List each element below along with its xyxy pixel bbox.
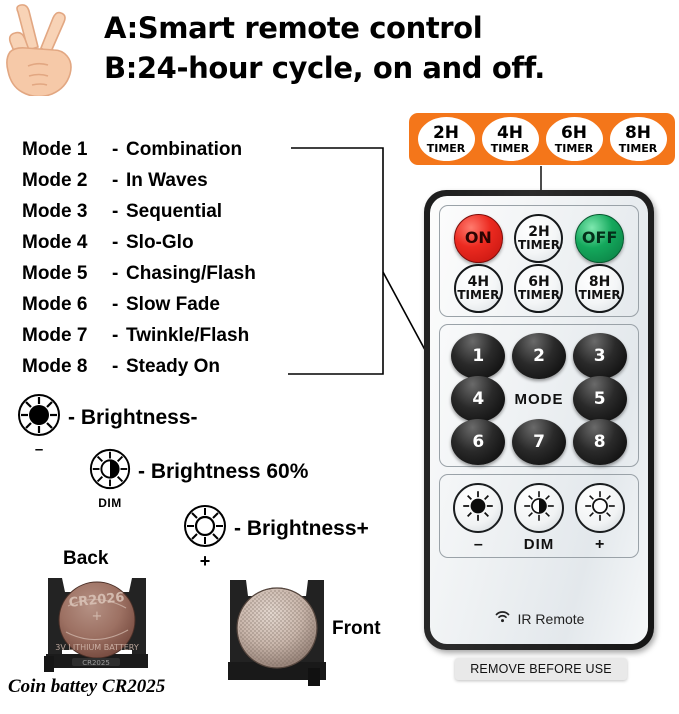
svg-text:CR2025: CR2025 [82, 659, 110, 667]
off-button[interactable]: OFF [575, 214, 624, 263]
mode-key-label: 7 [533, 432, 545, 452]
mode-desc: In Waves [126, 170, 208, 191]
off-button-label: OFF [582, 230, 617, 246]
brightness-half-icon [522, 489, 556, 528]
list-item: Mode 6-Slow Fade [22, 289, 312, 320]
mode-name: Mode 5 [22, 258, 112, 289]
battery-caption: Coin battey CR2025 [8, 676, 165, 698]
mode-key-7[interactable]: 7 [512, 419, 566, 465]
timer-sub: TIMER [518, 239, 560, 251]
timer-hours: 2H [528, 225, 549, 239]
battery-front-label: Front [332, 618, 381, 640]
mode-key-label: 2 [533, 346, 545, 366]
mode-name: Mode 2 [22, 165, 112, 196]
brightness-minus-sign: – [16, 443, 62, 457]
brightness-low-icon [16, 392, 62, 443]
mode-key-2[interactable]: 2 [512, 333, 566, 379]
remote-control: ON 2H TIMER OFF 4H TIMER 6H TIMER [424, 190, 654, 650]
header-line-b-key: B: [104, 48, 137, 88]
dim-panel: – DIM + [439, 474, 639, 558]
ir-remote-text: IR Remote [518, 611, 585, 627]
battery-back-image: CR2026 + 3V LITHIUM BATTERY CR2025 [38, 570, 156, 676]
brightness-low-icon [461, 489, 495, 528]
timer-sub: TIMER [518, 289, 560, 301]
mode-key-label: 6 [472, 432, 484, 452]
mode-dash: - [112, 134, 126, 165]
list-item: Mode 8-Steady On [22, 351, 312, 382]
mode-dash: - [112, 351, 126, 382]
timer-chip-hours: 8H [625, 125, 651, 142]
header-line-a: A:Smart remote control [104, 8, 664, 48]
mode-dash: - [112, 320, 126, 351]
mode-dash: - [112, 227, 126, 258]
brightness-high-icon [583, 489, 617, 528]
dim-minus-label: – [474, 536, 483, 554]
pull-tab[interactable]: REMOVE BEFORE USE [455, 658, 627, 680]
brightness-mid-label: - Brightness 60% [138, 460, 308, 484]
timer-4h-button[interactable]: 4H TIMER [454, 264, 503, 313]
mode-name: Mode 7 [22, 320, 112, 351]
brightness-half-icon [88, 447, 132, 496]
timer-sub: TIMER [579, 289, 621, 301]
timer-hours: 6H [528, 275, 549, 289]
mode-name: Mode 8 [22, 351, 112, 382]
list-item: Mode 4-Slo-Glo [22, 227, 312, 258]
timer-chip-2h: 2H TIMER [418, 117, 475, 161]
list-item: Mode 5-Chasing/Flash [22, 258, 312, 289]
timer-chip-sub: TIMER [427, 143, 466, 154]
mode-name: Mode 1 [22, 134, 112, 165]
mode-dash: - [112, 196, 126, 227]
mode-name: Mode 6 [22, 289, 112, 320]
mode-key-5[interactable]: 5 [573, 376, 627, 422]
dim-up-button[interactable] [575, 483, 625, 533]
mode-key-label: 3 [594, 346, 606, 366]
header-line-b: B:24-hour cycle, on and off. [104, 48, 664, 88]
header-line-b-text: 24-hour cycle, on and off. [137, 51, 545, 85]
list-item: Mode 7-Twinkle/Flash [22, 320, 312, 351]
on-button-label: ON [465, 230, 492, 246]
mode-desc: Twinkle/Flash [126, 325, 249, 346]
mode-key-6[interactable]: 6 [451, 419, 505, 465]
mode-panel-label: MODE [514, 391, 563, 408]
timer-8h-button[interactable]: 8H TIMER [575, 264, 624, 313]
dim-mid-button[interactable] [514, 483, 564, 533]
header-text-block: A:Smart remote control B:24-hour cycle, … [104, 8, 664, 88]
power-timer-panel: ON 2H TIMER OFF 4H TIMER 6H TIMER [439, 205, 639, 317]
timer-chip-sub: TIMER [619, 143, 658, 154]
battery-front-image [222, 570, 332, 690]
timer-chip-sub: TIMER [555, 143, 594, 154]
mode-key-1[interactable]: 1 [451, 333, 505, 379]
timer-chip-4h: 4H TIMER [482, 117, 539, 161]
brightness-plus-sign: + [182, 554, 228, 568]
mode-desc: Slo-Glo [126, 232, 194, 253]
mode-key-8[interactable]: 8 [573, 419, 627, 465]
victory-hand-icon [4, 4, 90, 96]
timer-2h-button[interactable]: 2H TIMER [514, 214, 563, 263]
svg-text:+: + [92, 609, 103, 624]
timer-chip-6h: 6H TIMER [546, 117, 603, 161]
mode-desc: Slow Fade [126, 294, 220, 315]
mode-name: Mode 4 [22, 227, 112, 258]
timer-hours: 4H [468, 275, 489, 289]
brightness-minus-label: - Brightness- [68, 406, 198, 430]
timer-6h-button[interactable]: 6H TIMER [514, 264, 563, 313]
on-button[interactable]: ON [454, 214, 503, 263]
ir-signal-icon [494, 609, 511, 628]
remote-faceplate: ON 2H TIMER OFF 4H TIMER 6H TIMER [430, 196, 648, 644]
ir-remote-footer: IR Remote [430, 609, 648, 628]
timer-chip-hours: 2H [433, 125, 459, 142]
timer-chip-sub: TIMER [491, 143, 530, 154]
timer-chip-hours: 6H [561, 125, 587, 142]
mode-key-label: 4 [472, 389, 484, 409]
mode-key-label: 5 [594, 389, 606, 409]
mode-desc: Chasing/Flash [126, 263, 256, 284]
timer-chip-hours: 4H [497, 125, 523, 142]
header-line-a-text: Smart remote control [138, 11, 482, 45]
list-item: Mode 1-Combination [22, 134, 312, 165]
list-item: Mode 2-In Waves [22, 165, 312, 196]
dim-plus-label: + [595, 536, 604, 554]
list-item: Mode 3-Sequential [22, 196, 312, 227]
svg-text:3V LITHIUM BATTERY: 3V LITHIUM BATTERY [55, 643, 139, 652]
mode-key-4[interactable]: 4 [451, 376, 505, 422]
mode-dash: - [112, 258, 126, 289]
timer-banner: 2H TIMER 4H TIMER 6H TIMER 8H TIMER [409, 113, 675, 165]
timer-hours: 8H [589, 275, 610, 289]
mode-desc: Combination [126, 139, 242, 160]
timer-chip-8h: 8H TIMER [610, 117, 667, 161]
mode-desc: Steady On [126, 356, 220, 377]
mode-desc: Sequential [126, 201, 222, 222]
battery-back-label: Back [63, 548, 108, 570]
mode-keypad-panel: 1 2 3 4 MODE 5 6 7 8 [439, 324, 639, 467]
dim-down-button[interactable] [453, 483, 503, 533]
brightness-plus-label: - Brightness+ [234, 517, 369, 541]
pull-tab-label: REMOVE BEFORE USE [470, 662, 612, 676]
brightness-mid-sign: DIM [88, 496, 132, 510]
header-line-a-key: A: [104, 8, 138, 48]
mode-dash: - [112, 289, 126, 320]
mode-key-label: 8 [594, 432, 606, 452]
timer-sub: TIMER [457, 289, 499, 301]
mode-key-3[interactable]: 3 [573, 333, 627, 379]
mode-name: Mode 3 [22, 196, 112, 227]
dim-panel-label: DIM [524, 536, 555, 554]
brightness-high-icon [182, 503, 228, 554]
mode-dash: - [112, 165, 126, 196]
brightness-mid-legend: - Brightness 60% DIM [88, 447, 308, 510]
mode-key-label: 1 [472, 346, 484, 366]
brightness-plus-legend: - Brightness+ + [182, 503, 369, 568]
mode-list: Mode 1-Combination Mode 2-In Waves Mode … [22, 134, 312, 382]
